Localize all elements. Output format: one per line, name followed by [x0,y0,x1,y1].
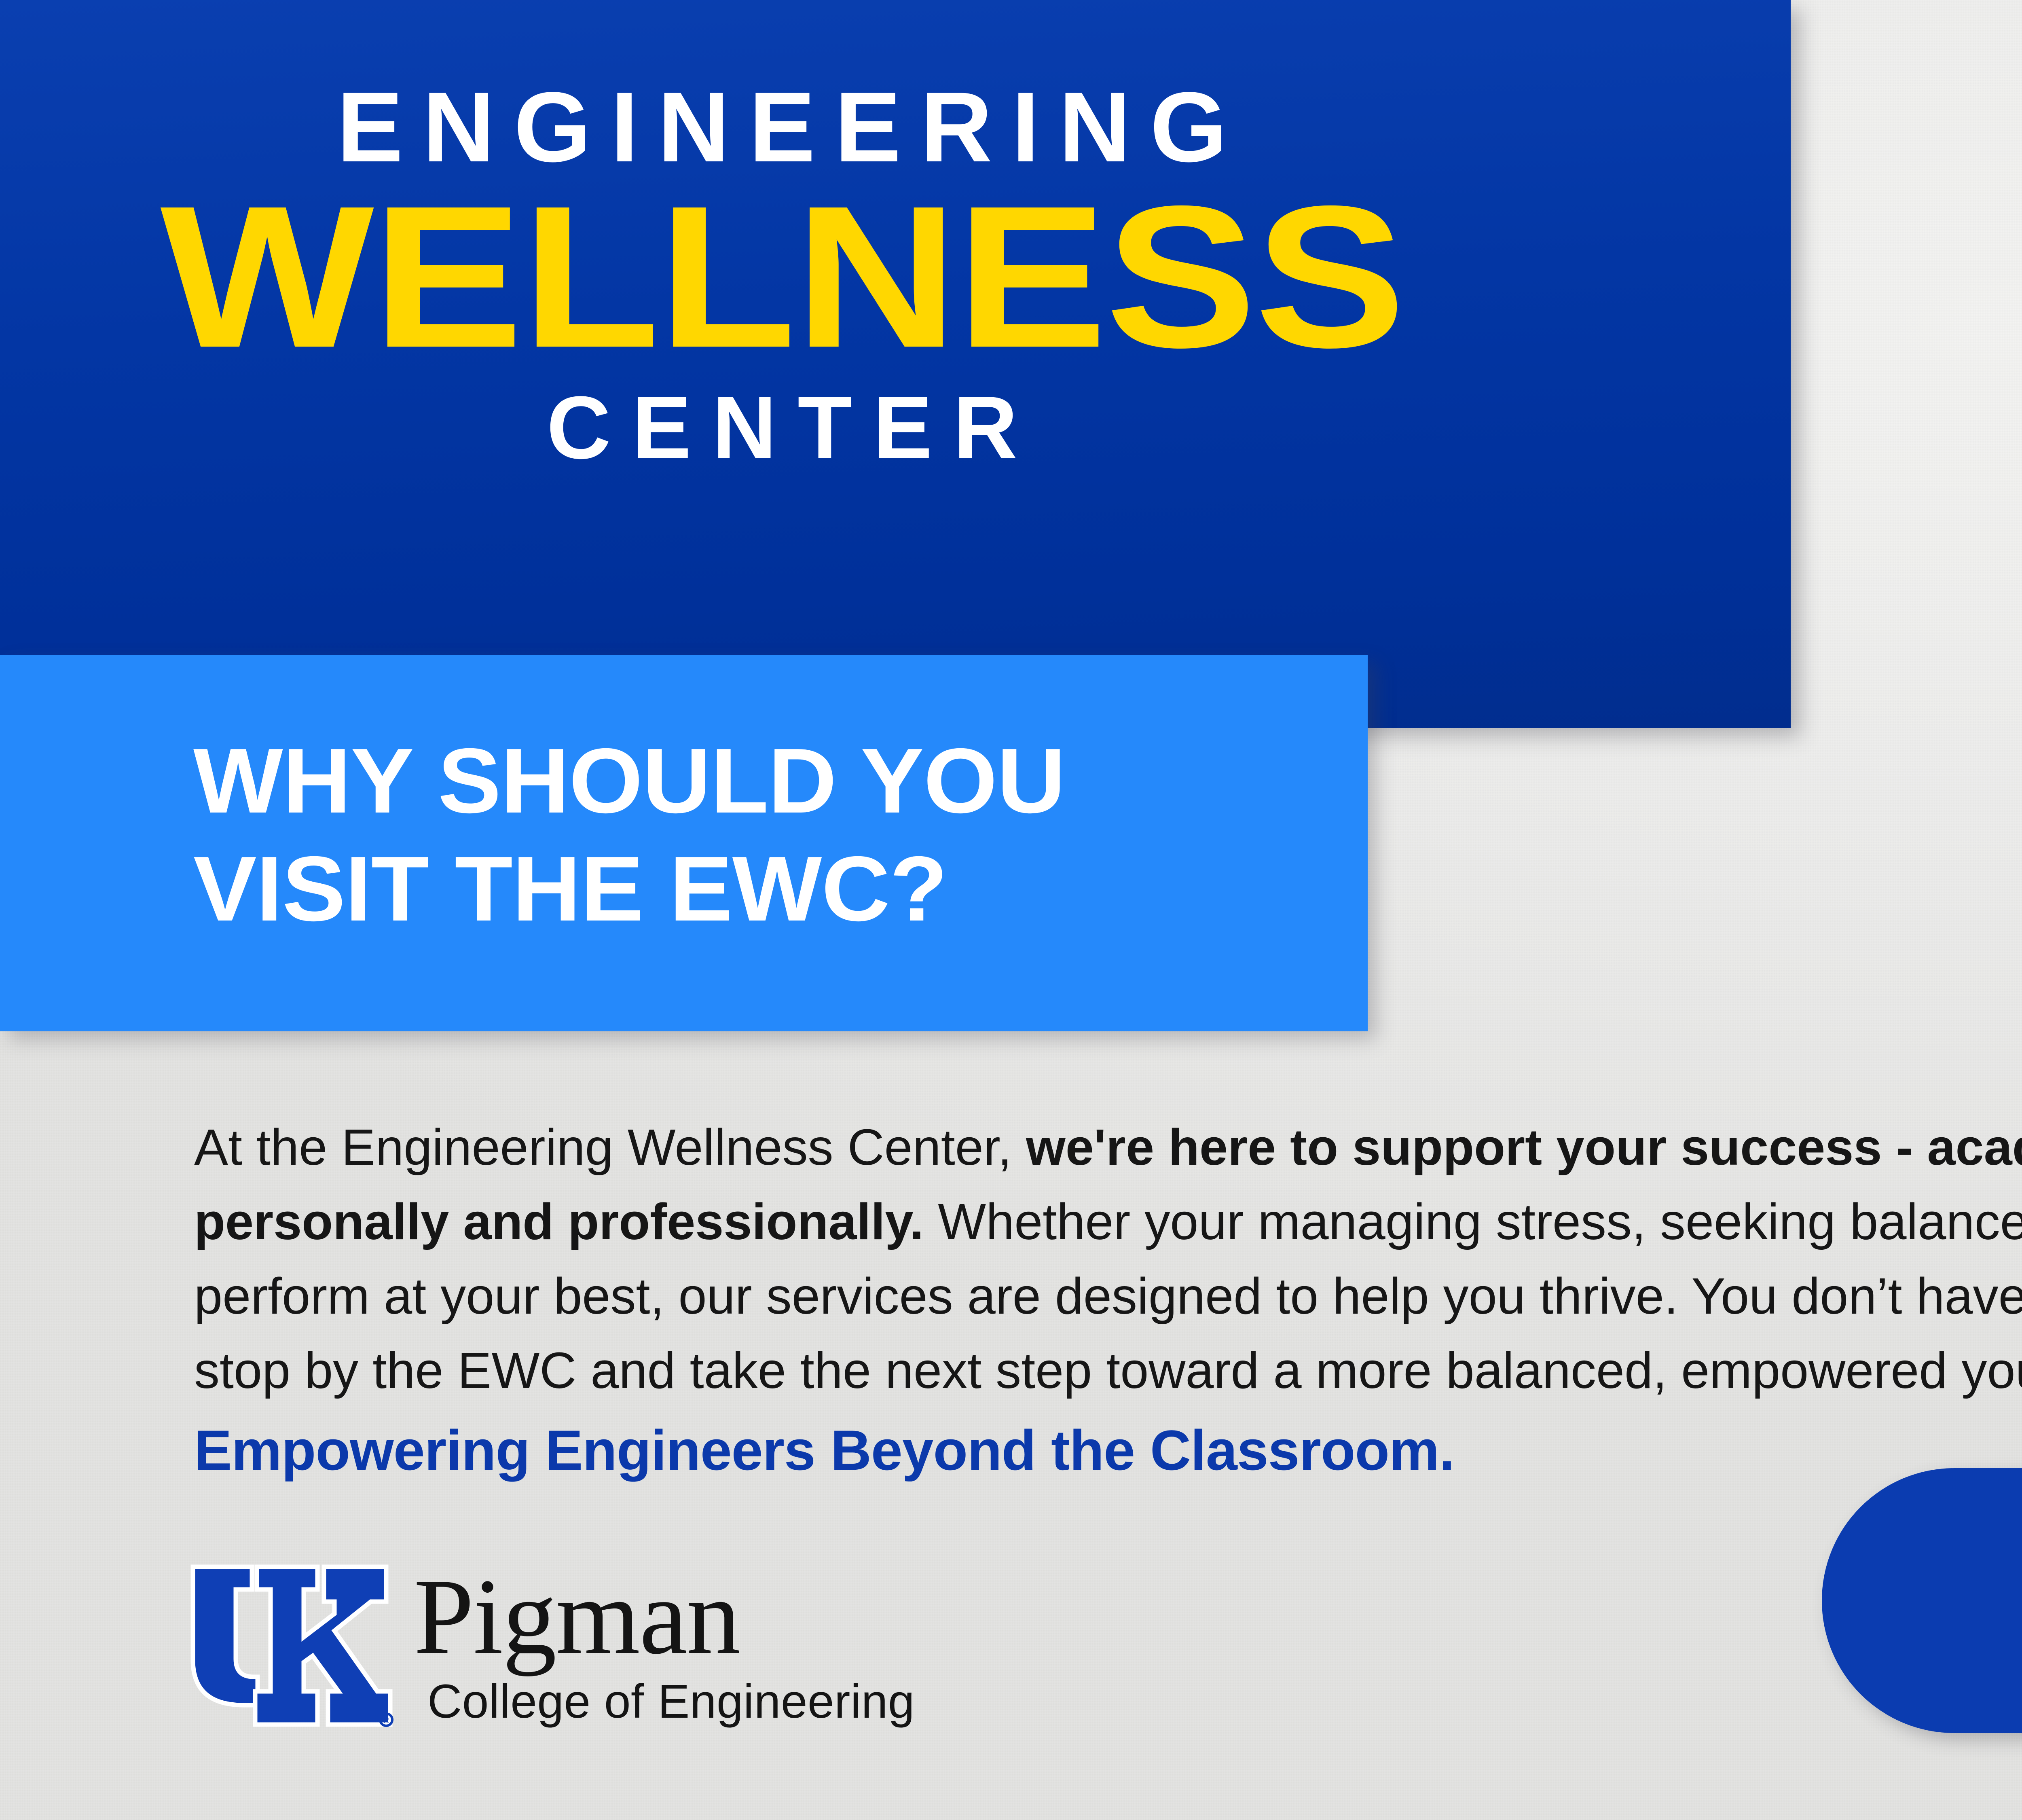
brand-wellness: WELLNESS [0,180,1658,372]
brand-center: CENTER [0,383,1564,472]
body-part-1: At the Engineering Wellness Center, [194,1119,1026,1176]
svg-text:R: R [383,1716,389,1725]
subhead-text: WHY SHOULD YOU VISIT THE EWC? [193,727,1065,943]
logo-pigman-name: Pigman [414,1567,915,1667]
navy-header-block: ENGINEERING WELLNESS CENTER [0,0,1791,728]
logo-wordmark: Pigman College of Engineering [414,1558,915,1729]
logo-college-subtitle: College of Engineering [414,1674,915,1729]
tagline: Empowering Engineers Beyond the Classroo… [194,1418,1454,1483]
subhead-block: WHY SHOULD YOU VISIT THE EWC? [0,655,1368,1031]
uk-interlock-icon: R [184,1558,394,1752]
uk-pigman-logo: R Pigman College of Engineering [184,1558,915,1752]
brand-engineering: ENGINEERING [0,78,1564,177]
brand-lockup: ENGINEERING WELLNESS CENTER [0,78,1791,472]
body-paragraph: At the Engineering Wellness Center, we'r… [194,1110,2022,1408]
